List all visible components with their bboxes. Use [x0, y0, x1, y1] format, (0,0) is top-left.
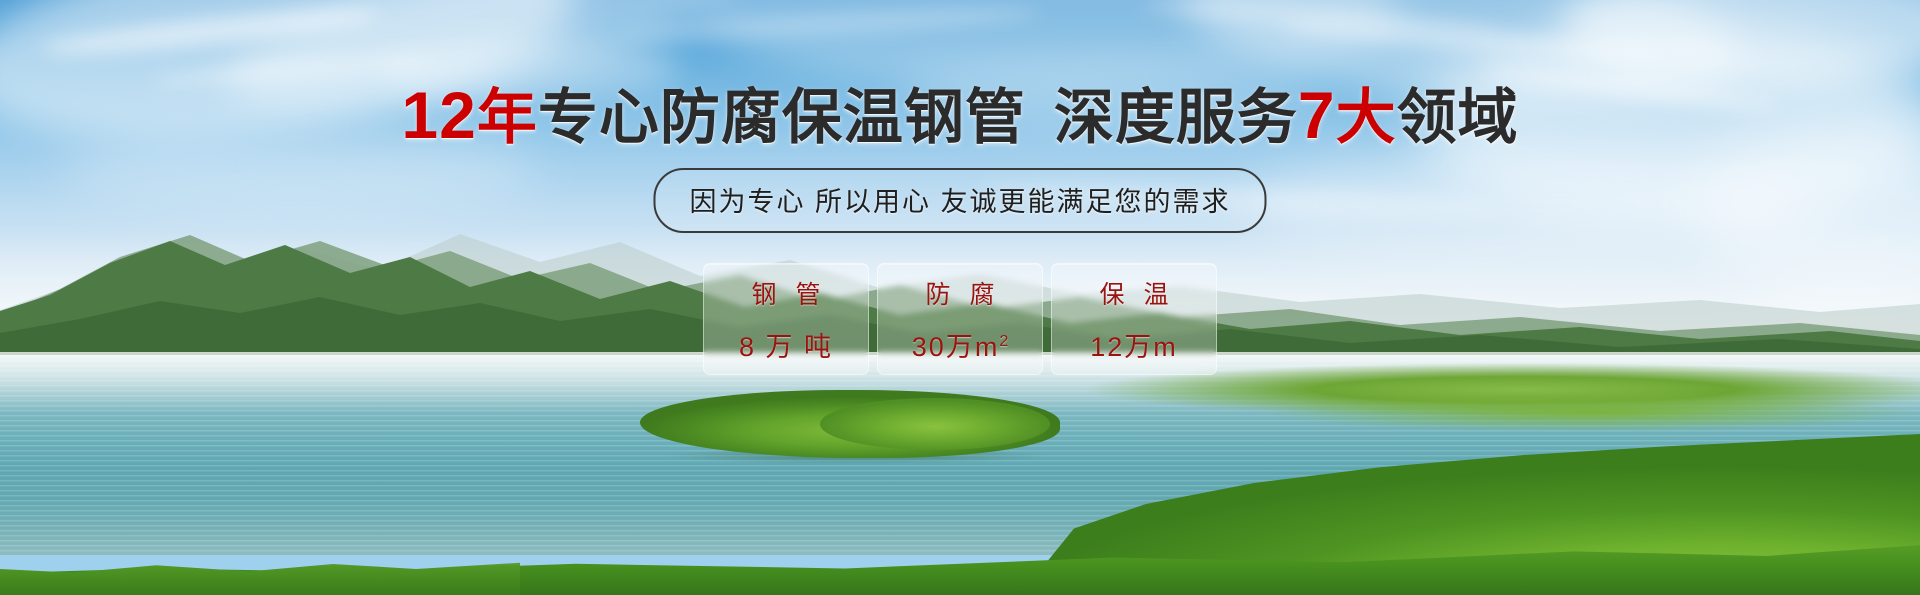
stat-card-label: 钢 管	[746, 275, 827, 311]
far-bank-vegetation	[1260, 392, 1920, 432]
stat-card-label: 防 腐	[920, 275, 1001, 311]
stat-card-value: 30万m2	[912, 325, 1008, 364]
stat-card-value-text: 8 万 吨	[739, 332, 833, 362]
headline-tail-text: 领域	[1397, 84, 1519, 151]
headline-fields-number: 7	[1298, 78, 1336, 152]
headline-years-unit: 年	[477, 84, 538, 151]
headline-second-text: 深度服务	[1054, 84, 1298, 151]
stat-card-steel-pipe[interactable]: 钢 管 8 万 吨	[703, 263, 869, 375]
stat-card-value-text: 12万m	[1090, 332, 1178, 362]
banner-subtitle-pill: 因为专心 所以用心 友诚更能满足您的需求	[653, 168, 1266, 233]
stat-card-value: 12万m	[1090, 325, 1178, 364]
stat-card-value: 8 万 吨	[739, 325, 833, 364]
stat-card-value-text: 30万m	[912, 332, 1000, 362]
headline-years-number: 12	[401, 78, 476, 152]
stat-card-insulation[interactable]: 保 温 12万m	[1051, 263, 1217, 375]
stat-card-label: 保 温	[1094, 275, 1175, 311]
stat-card-group: 钢 管 8 万 吨 防 腐 30万m2 保 温 12万m	[703, 263, 1217, 375]
hero-banner: 12年专心防腐保温钢管深度服务7大领域 因为专心 所以用心 友诚更能满足您的需求…	[0, 0, 1920, 595]
grass-islet	[820, 398, 1050, 450]
headline-fields-unit: 大	[1336, 84, 1397, 151]
stat-card-value-superscript: 2	[999, 333, 1008, 350]
stat-card-anticorrosion[interactable]: 防 腐 30万m2	[877, 263, 1043, 375]
banner-headline: 12年专心防腐保温钢管深度服务7大领域	[0, 82, 1920, 148]
headline-main-text: 专心防腐保温钢管	[538, 84, 1026, 151]
